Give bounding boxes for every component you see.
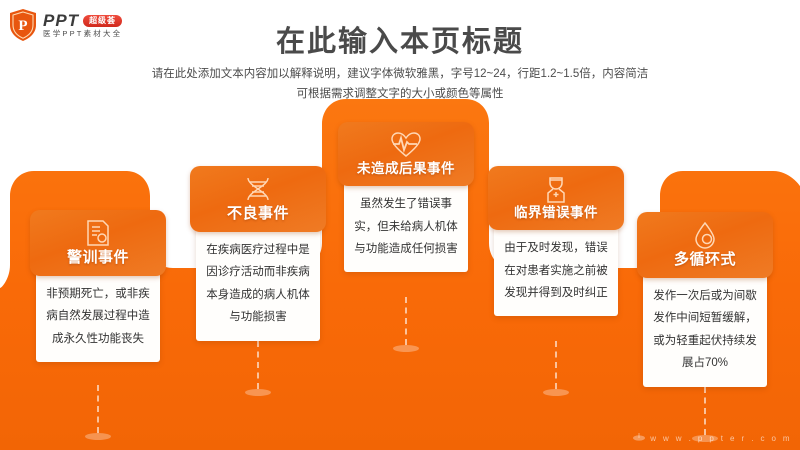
logo-tagline: 医学PPT素材大全 xyxy=(43,30,122,38)
document-report-icon xyxy=(34,218,162,248)
watermark: w w w . p p t e r . c o m xyxy=(632,432,792,444)
pin-stem-3 xyxy=(393,297,419,352)
logo-badge: 超级荟 xyxy=(83,15,122,27)
card-body-2: 在疾病医疗过程中是因诊疗活动而非疾病本身造成的病人机体与功能损害 xyxy=(196,223,320,341)
watermark-icon xyxy=(632,432,646,444)
info-card-4[interactable]: 临界错误事件 由于及时发现，错误在对患者实施之前被发现并得到及时纠正 xyxy=(488,166,624,316)
card-header-1: 警训事件 xyxy=(30,210,166,276)
card-header-3: 未造成后果事件 xyxy=(338,122,474,186)
card-body-3: 虽然发生了错误事实，但未给病人机体与功能造成任何损害 xyxy=(344,177,468,272)
watermark-text: w w w . p p t e r . c o m xyxy=(650,434,792,443)
card-title-3: 未造成后果事件 xyxy=(342,161,470,177)
doctor-person-icon xyxy=(492,174,620,204)
info-card-3[interactable]: 未造成后果事件 虽然发生了错误事实，但未给病人机体与功能造成任何损害 xyxy=(338,122,474,272)
shield-icon: P xyxy=(8,8,38,42)
card-body-5: 发作一次后或为间歇发作中间短暂缓解，或为轻重起伏持续发展占70% xyxy=(643,269,767,387)
page-subtitle: 请在此处添加文本内容加以解释说明，建议字体微软雅黑，字号12~24，行距1.2~… xyxy=(0,64,800,104)
card-body-4: 由于及时发现，错误在对患者实施之前被发现并得到及时纠正 xyxy=(494,221,618,316)
card-title-1: 警训事件 xyxy=(34,249,162,267)
card-title-2: 不良事件 xyxy=(194,205,322,223)
info-card-2[interactable]: 不良事件 在疾病医疗过程中是因诊疗活动而非疾病本身造成的病人机体与功能损害 xyxy=(190,166,326,341)
pin-stem-2 xyxy=(245,341,271,396)
svg-text:P: P xyxy=(18,18,27,34)
pin-stem-1 xyxy=(85,385,111,440)
dna-helix-icon xyxy=(194,174,322,204)
card-header-5: 多循环式 xyxy=(637,212,773,278)
subtitle-line-1: 请在此处添加文本内容加以解释说明，建议字体微软雅黑，字号12~24，行距1.2~… xyxy=(0,64,800,84)
pin-stem-4 xyxy=(543,341,569,396)
card-title-5: 多循环式 xyxy=(641,251,769,269)
card-header-2: 不良事件 xyxy=(190,166,326,232)
blood-drop-icon xyxy=(641,220,769,250)
card-title-4: 临界错误事件 xyxy=(492,205,620,221)
subtitle-line-2: 可根据需求调整文字的大小或颜色等属性 xyxy=(0,84,800,104)
site-logo[interactable]: P PPT 超级荟 医学PPT素材大全 xyxy=(8,8,122,42)
heart-pulse-icon xyxy=(342,130,470,160)
card-body-1: 非预期死亡，或非疾病自然发展过程中造成永久性功能丧失 xyxy=(36,267,160,362)
slide-canvas: P PPT 超级荟 医学PPT素材大全 在此输入本页标题 请在此处添加文本内容加… xyxy=(0,0,800,450)
card-header-4: 临界错误事件 xyxy=(488,166,624,230)
info-card-1[interactable]: 警训事件 非预期死亡，或非疾病自然发展过程中造成永久性功能丧失 xyxy=(30,210,166,362)
info-card-5[interactable]: 多循环式 发作一次后或为间歇发作中间短暂缓解，或为轻重起伏持续发展占70% xyxy=(637,212,773,387)
logo-brand-text: PPT xyxy=(43,12,79,29)
